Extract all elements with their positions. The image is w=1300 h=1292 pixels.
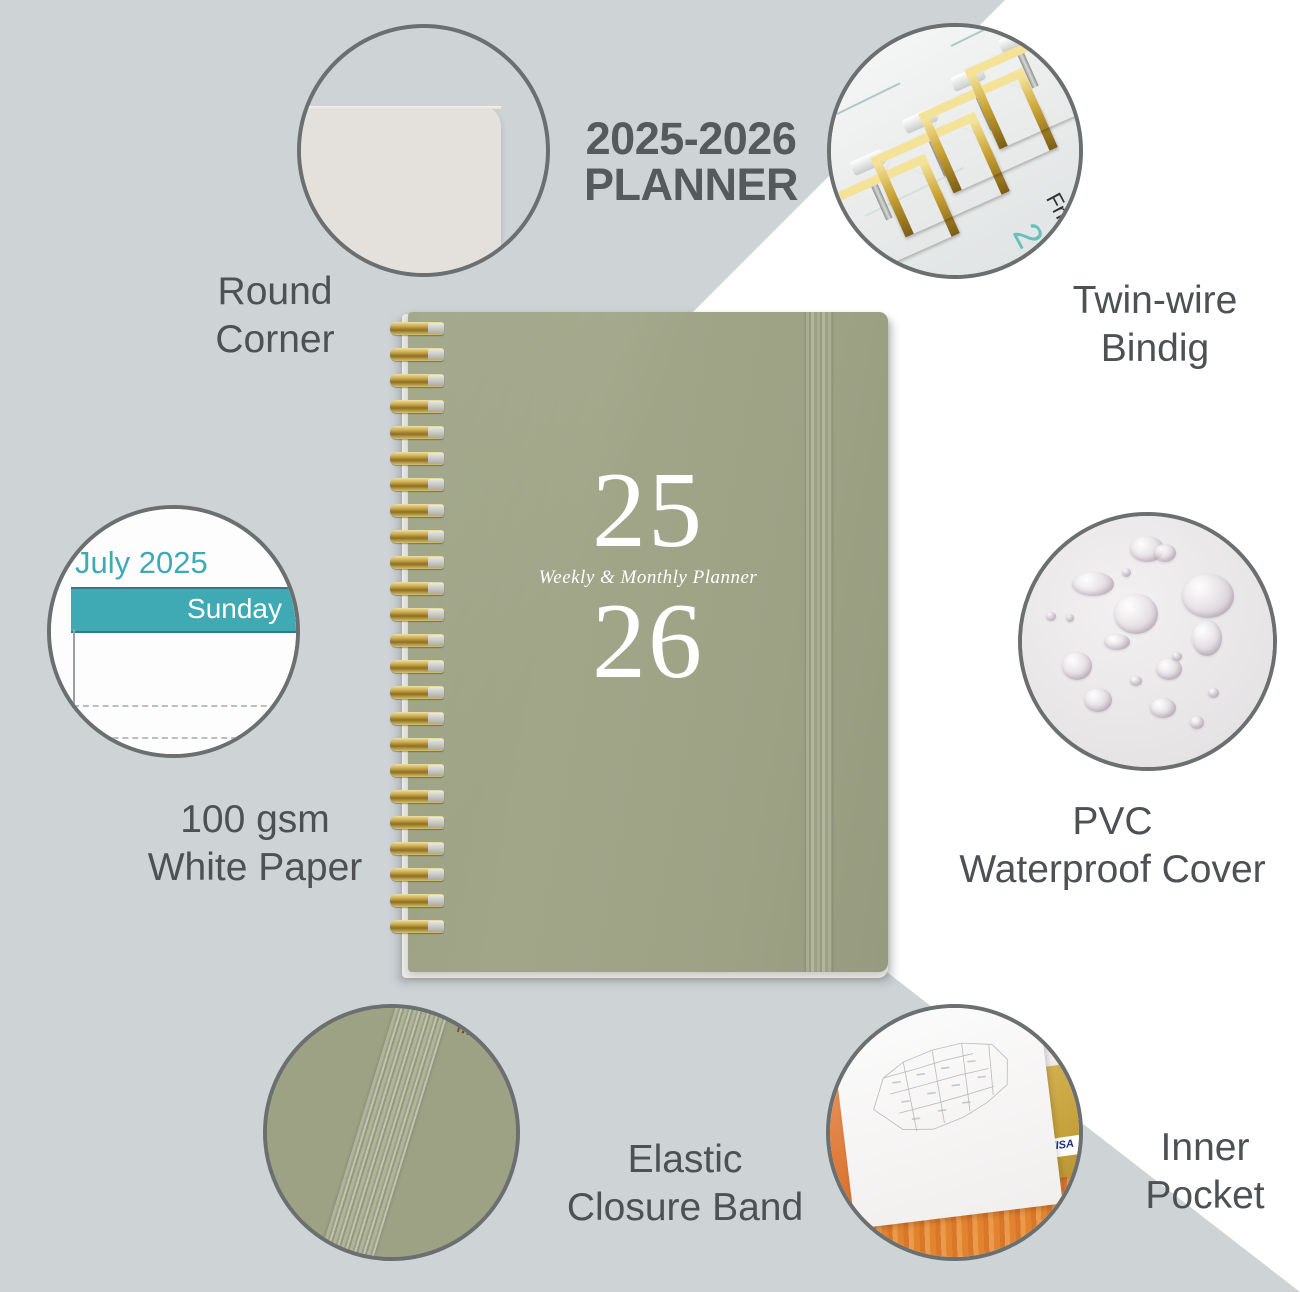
feature-label-pvc-waterproof: PVC Waterproof Cover (925, 798, 1300, 893)
paper-dashed-line (73, 705, 300, 707)
water-droplet-icon (1084, 688, 1112, 712)
water-droplet-icon (1130, 676, 1142, 686)
cover-year-top: 25 (408, 460, 888, 563)
wire-coil (390, 738, 444, 751)
us-map-icon (850, 1004, 1036, 1174)
paper-dashed-line (73, 737, 300, 739)
water-droplet-icon (1122, 568, 1131, 577)
wire-coil (390, 920, 444, 933)
feature-circle-pvc-waterproof (1018, 512, 1277, 771)
water-droplet-icon (1192, 620, 1222, 656)
wire-coil (390, 374, 444, 387)
feature-circle-round-corner (297, 24, 550, 277)
feature-circle-elastic-band (263, 1004, 520, 1261)
wire-coil (390, 634, 444, 647)
planner-product-image: 25 Weekly & Monthly Planner 26 (386, 312, 894, 984)
feature-label-inner-pocket: Inner Pocket (1110, 1124, 1300, 1219)
rounded-page-corner-icon (297, 106, 501, 277)
wire-coil (390, 400, 444, 413)
wire-coil (390, 582, 444, 595)
water-droplet-icon (1062, 652, 1092, 680)
wire-coil (390, 842, 444, 855)
feature-circle-inner-pocket: VISA (826, 1004, 1083, 1261)
wire-coil (390, 348, 444, 361)
planner-wire-binding (386, 322, 446, 968)
wire-coil (390, 712, 444, 725)
wire-coil (390, 660, 444, 673)
water-droplet-icon (1182, 574, 1234, 618)
water-droplet-icon (1150, 698, 1176, 718)
pocket-map-page (826, 1004, 1063, 1229)
cover-typography: 25 Weekly & Monthly Planner 26 (408, 460, 888, 693)
headline-years: 2025-2026 (556, 116, 826, 162)
wire-coil (390, 322, 444, 335)
water-droplet-icon (1114, 594, 1158, 634)
product-infographic: 2025-2026 PLANNER Round Corner Fri 27 Tw… (0, 0, 1300, 1292)
wire-coil (390, 894, 444, 907)
water-droplet-icon (1154, 544, 1176, 562)
page-title: 2025-2026 PLANNER (556, 116, 826, 208)
water-droplet-icon (1104, 634, 1130, 650)
wire-coil (390, 816, 444, 829)
wire-coil (390, 426, 444, 439)
water-droplet-icon (1172, 652, 1182, 661)
wire-coil (390, 764, 444, 777)
wire-coil (390, 452, 444, 465)
wire-coil (390, 478, 444, 491)
paper-vertical-rule (73, 629, 75, 707)
wire-coil (390, 686, 444, 699)
headline-product: PLANNER (556, 162, 826, 208)
wire-coil (390, 556, 444, 569)
paper-month-label: July 2025 (75, 545, 208, 581)
water-droplet-icon (1046, 612, 1056, 621)
wire-coil (390, 504, 444, 517)
water-droplet-icon (1072, 572, 1114, 596)
paper-day-header-row: Sunday (71, 587, 300, 633)
paper-day-header-label: Sunday (187, 593, 282, 625)
feature-circle-paper: July 2025 Sunday (47, 505, 300, 758)
water-droplet-icon (1066, 614, 1074, 622)
water-droplet-icon (1208, 688, 1219, 698)
water-droplet-icon (1156, 658, 1182, 680)
wire-coil (390, 530, 444, 543)
feature-label-elastic-band: Elastic Closure Band (530, 1136, 840, 1231)
feature-circle-twin-wire: Fri 27 (827, 23, 1083, 279)
wire-coil (390, 790, 444, 803)
feature-label-twin-wire: Twin-wire Bindig (1040, 277, 1270, 372)
feature-label-paper: 100 gsm White Paper (120, 796, 390, 891)
wire-coil (390, 868, 444, 881)
cover-year-bottom: 26 (408, 591, 888, 694)
feature-label-round-corner: Round Corner (155, 268, 395, 363)
water-droplet-icon (1190, 716, 1204, 729)
wire-coil (390, 608, 444, 621)
planner-cover: 25 Weekly & Monthly Planner 26 (408, 312, 888, 972)
